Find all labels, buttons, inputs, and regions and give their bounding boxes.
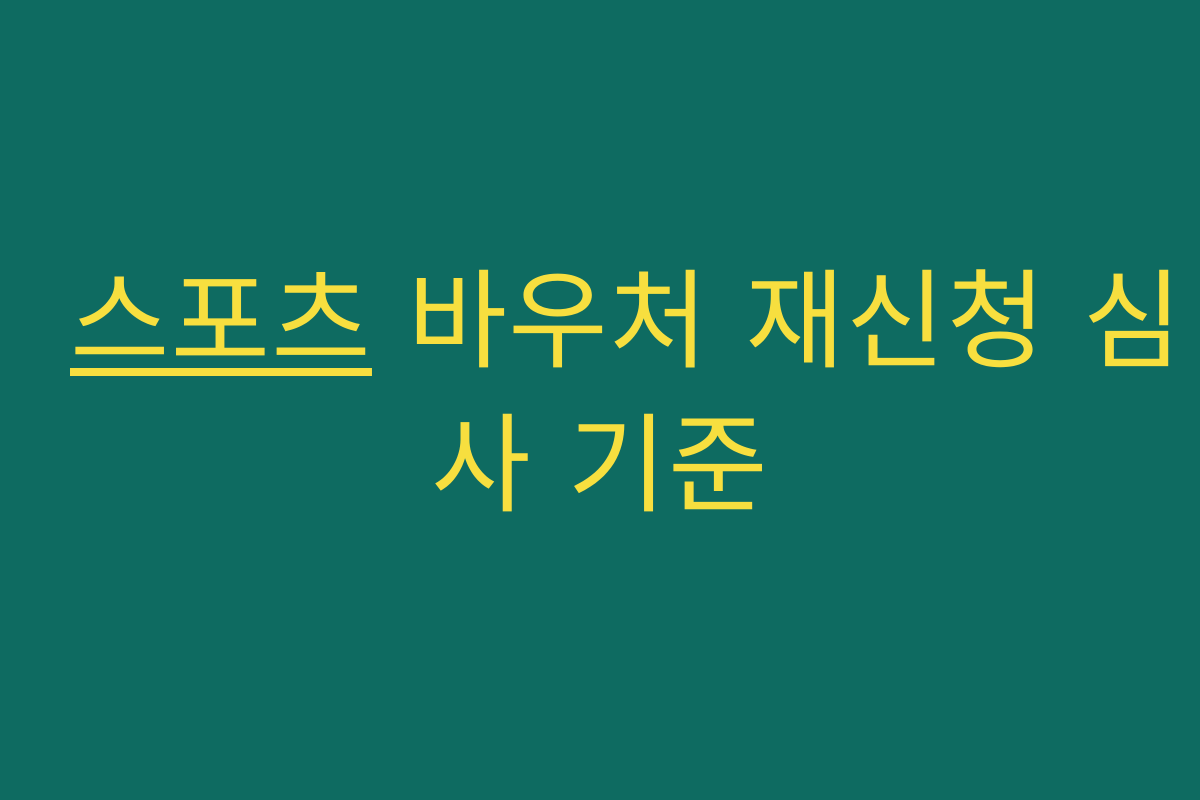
title-line-1: 스포츠 바우처 재신청 심 [70,251,1130,395]
title-line-1-rest: 바우처 재신청 심 [372,260,1183,385]
title-banner: 스포츠 바우처 재신청 심 사 기준 [0,0,1200,800]
page-title: 스포츠 바우처 재신청 심 사 기준 [70,251,1130,538]
title-line-2: 사 기준 [70,395,1130,539]
title-underlined-keyword: 스포츠 [70,260,372,385]
